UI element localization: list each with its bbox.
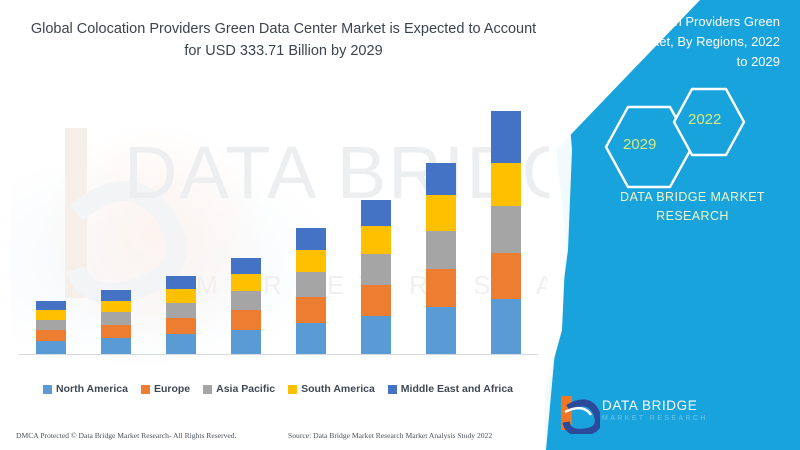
bar-segment xyxy=(296,297,326,323)
stacked-bar xyxy=(491,111,521,354)
bar-segment xyxy=(166,303,196,318)
right-panel-title: Global Colocation Providers Green Data C… xyxy=(552,12,790,72)
legend-label: Europe xyxy=(154,383,190,395)
stacked-bar xyxy=(231,258,261,354)
legend-label: South America xyxy=(301,383,375,395)
bar-segment xyxy=(491,163,521,207)
logo-subtitle: MARKET RESEARCH xyxy=(602,415,708,422)
bar-column xyxy=(412,110,470,354)
bar-column xyxy=(87,110,145,354)
bar-segment xyxy=(36,310,66,320)
bar-segment xyxy=(426,163,456,196)
brand-line-1: DATA BRIDGE MARKET xyxy=(590,188,795,207)
bar-column xyxy=(152,110,210,354)
stacked-bar-chart: 20222023202420252026202720282029 xyxy=(18,110,538,355)
bar-column xyxy=(217,110,275,354)
hexagon-badges: 2029 2022 xyxy=(585,92,800,172)
footer-copyright: DMCA Protected © Data Bridge Market Rese… xyxy=(16,431,236,440)
legend-item[interactable]: Europe xyxy=(141,383,190,395)
chart-legend: North AmericaEuropeAsia PacificSouth Ame… xyxy=(18,383,538,395)
bar-segment xyxy=(166,334,196,354)
bar-segment xyxy=(36,320,66,330)
data-bridge-logo: DATA BRIDGE MARKET RESEARCH xyxy=(556,392,726,438)
stacked-bar xyxy=(166,276,196,354)
bar-segment xyxy=(166,318,196,334)
bar-segment xyxy=(166,276,196,289)
bar-segment xyxy=(491,206,521,253)
data-bridge-mark-icon xyxy=(556,392,600,434)
legend-item[interactable]: South America xyxy=(288,383,375,395)
infographic-root: DATA BRIDGE MARKET RESEARCH Global Coloc… xyxy=(0,0,800,450)
bar-segment xyxy=(426,231,456,269)
legend-item[interactable]: Asia Pacific xyxy=(203,383,275,395)
legend-swatch-icon xyxy=(141,385,150,394)
stacked-bar xyxy=(36,301,66,354)
hexagon-2022: 2022 xyxy=(671,86,747,158)
brand-line-2: RESEARCH xyxy=(590,207,795,226)
bar-segment xyxy=(296,272,326,297)
bar-segment xyxy=(101,325,131,338)
bar-column xyxy=(477,110,535,354)
stacked-bar xyxy=(426,163,456,354)
bar-segment xyxy=(231,310,261,330)
bar-segment xyxy=(231,274,261,292)
bar-segment xyxy=(231,291,261,310)
bar-segment xyxy=(361,285,391,316)
hexagon-2029-label: 2029 xyxy=(623,136,656,153)
bar-segment xyxy=(36,301,66,310)
bar-segment xyxy=(426,195,456,230)
bar-segment xyxy=(296,250,326,273)
footer-source: Source: Data Bridge Market Research Mark… xyxy=(288,431,492,440)
bar-segment xyxy=(361,254,391,285)
bar-column xyxy=(22,110,80,354)
legend-swatch-icon xyxy=(288,385,297,394)
bar-segment xyxy=(361,316,391,354)
page-title: Global Colocation Providers Green Data C… xyxy=(26,18,541,63)
bar-segment xyxy=(231,258,261,274)
legend-label: North America xyxy=(56,383,128,395)
legend-swatch-icon xyxy=(43,385,52,394)
stacked-bar xyxy=(101,290,131,354)
bar-segment xyxy=(101,290,131,301)
bar-column xyxy=(282,110,340,354)
bar-segment xyxy=(166,289,196,303)
legend-swatch-icon xyxy=(203,385,212,394)
bar-segment xyxy=(36,330,66,341)
bar-segment xyxy=(231,330,261,354)
legend-label: Middle East and Africa xyxy=(401,383,513,395)
chart-bars xyxy=(18,110,538,354)
bar-segment xyxy=(426,269,456,308)
bar-segment xyxy=(101,338,131,354)
bar-segment xyxy=(491,111,521,163)
bar-segment xyxy=(296,228,326,249)
bar-segment xyxy=(491,299,521,354)
left-panel: DATA BRIDGE MARKET RESEARCH Global Coloc… xyxy=(0,0,575,450)
legend-item[interactable]: North America xyxy=(43,383,128,395)
bar-segment xyxy=(361,200,391,226)
x-axis-line xyxy=(18,354,538,355)
hexagon-2022-label: 2022 xyxy=(688,111,721,128)
bar-segment xyxy=(296,323,326,354)
bar-segment xyxy=(426,307,456,354)
bar-segment xyxy=(36,341,66,354)
stacked-bar xyxy=(296,228,326,354)
bar-segment xyxy=(101,312,131,324)
legend-label: Asia Pacific xyxy=(216,383,275,395)
bar-segment xyxy=(361,226,391,254)
bar-segment xyxy=(101,301,131,313)
stacked-bar xyxy=(361,200,391,354)
brand-name: DATA BRIDGE MARKET RESEARCH xyxy=(590,188,795,226)
footer: DMCA Protected © Data Bridge Market Rese… xyxy=(0,428,575,450)
logo-title: DATA BRIDGE xyxy=(602,398,697,413)
bar-column xyxy=(347,110,405,354)
legend-swatch-icon xyxy=(388,385,397,394)
bar-segment xyxy=(491,253,521,299)
legend-item[interactable]: Middle East and Africa xyxy=(388,383,513,395)
